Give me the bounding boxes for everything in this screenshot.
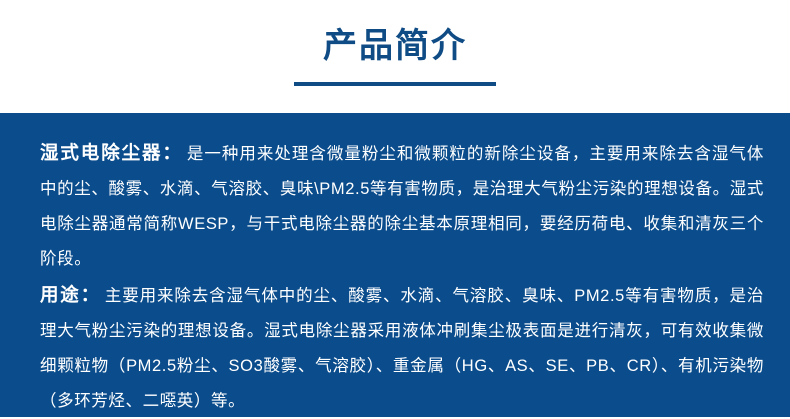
product-introduction-page: 产品简介 湿式电除尘器：是一种用来处理含微量粉尘和微颗粒的新除尘设备，主要用来除… [0,0,790,417]
paragraph-label-wet-esp: 湿式电除尘器： [40,142,183,163]
description-panel: 湿式电除尘器：是一种用来处理含微量粉尘和微颗粒的新除尘设备，主要用来除去含湿气体… [0,113,790,417]
paragraph-label-usage: 用途： [40,284,101,305]
paragraph-wet-esp: 湿式电除尘器：是一种用来处理含微量粉尘和微颗粒的新除尘设备，主要用来除去含湿气体… [40,135,764,277]
title-underline-rule [294,82,496,86]
paragraph-text-usage: 主要用来除去含湿气体中的尘、酸雾、水滴、气溶胶、臭味、PM2.5等有害物质，是治… [40,287,764,410]
page-header: 产品简介 [0,0,790,113]
page-title: 产品简介 [323,26,467,66]
paragraph-text-wet-esp: 是一种用来处理含微量粉尘和微颗粒的新除尘设备，主要用来除去含湿气体中的尘、酸雾、… [40,145,764,268]
paragraph-usage: 用途：主要用来除去含湿气体中的尘、酸雾、水滴、气溶胶、臭味、PM2.5等有害物质… [40,277,764,419]
